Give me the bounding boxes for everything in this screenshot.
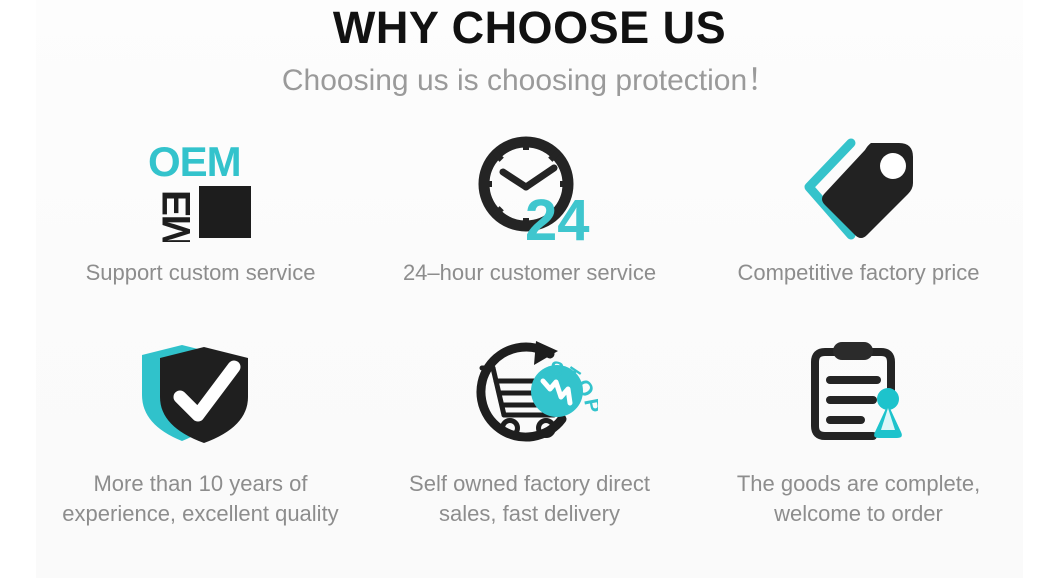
svg-text:24: 24	[525, 188, 590, 248]
oem-icon: OEM EM EM	[142, 130, 260, 250]
feature-item-experience: More than 10 years of experience, excell…	[36, 330, 365, 540]
feature-caption: 24–hour customer service	[403, 258, 656, 288]
clock-24-icon: 24	[470, 130, 590, 250]
why-choose-us-banner: WHY CHOOSE US Choosing us is choosing pr…	[0, 0, 1059, 578]
price-tag-icon	[795, 130, 923, 250]
page-subtitle: Choosing us is choosing protection！	[0, 54, 1059, 99]
feature-caption: The goods are complete, welcome to order	[737, 469, 980, 529]
feature-caption: Self owned factory direct sales, fast de…	[409, 469, 650, 529]
feature-item-price: Competitive factory price	[694, 130, 1023, 330]
feature-item-24h: 24 24–hour customer service	[365, 130, 694, 330]
feature-item-oem: OEM EM EM Support custom serv	[36, 130, 365, 330]
feature-row-bottom: More than 10 years of experience, excell…	[36, 330, 1023, 540]
feature-row-top: OEM EM EM Support custom serv	[36, 130, 1023, 330]
svg-text:EM: EM	[155, 190, 199, 242]
feature-caption: Competitive factory price	[737, 258, 979, 288]
page-title: WHY CHOOSE US	[0, 0, 1059, 54]
feature-caption: Support custom service	[86, 258, 316, 288]
svg-text:OEM: OEM	[148, 138, 241, 185]
feature-caption: More than 10 years of experience, excell…	[62, 469, 338, 529]
header: WHY CHOOSE US Choosing us is choosing pr…	[0, 0, 1059, 99]
feature-item-factory-direct: STOP Self owned factory direct sales, fa…	[365, 330, 694, 540]
feature-grid: OEM EM EM Support custom serv	[36, 130, 1023, 540]
shield-check-icon	[142, 330, 260, 455]
clipboard-stamp-icon	[799, 330, 919, 455]
shopping-cart-refresh-icon: STOP	[462, 330, 598, 455]
feature-item-goods-complete: The goods are complete, welcome to order	[694, 330, 1023, 540]
